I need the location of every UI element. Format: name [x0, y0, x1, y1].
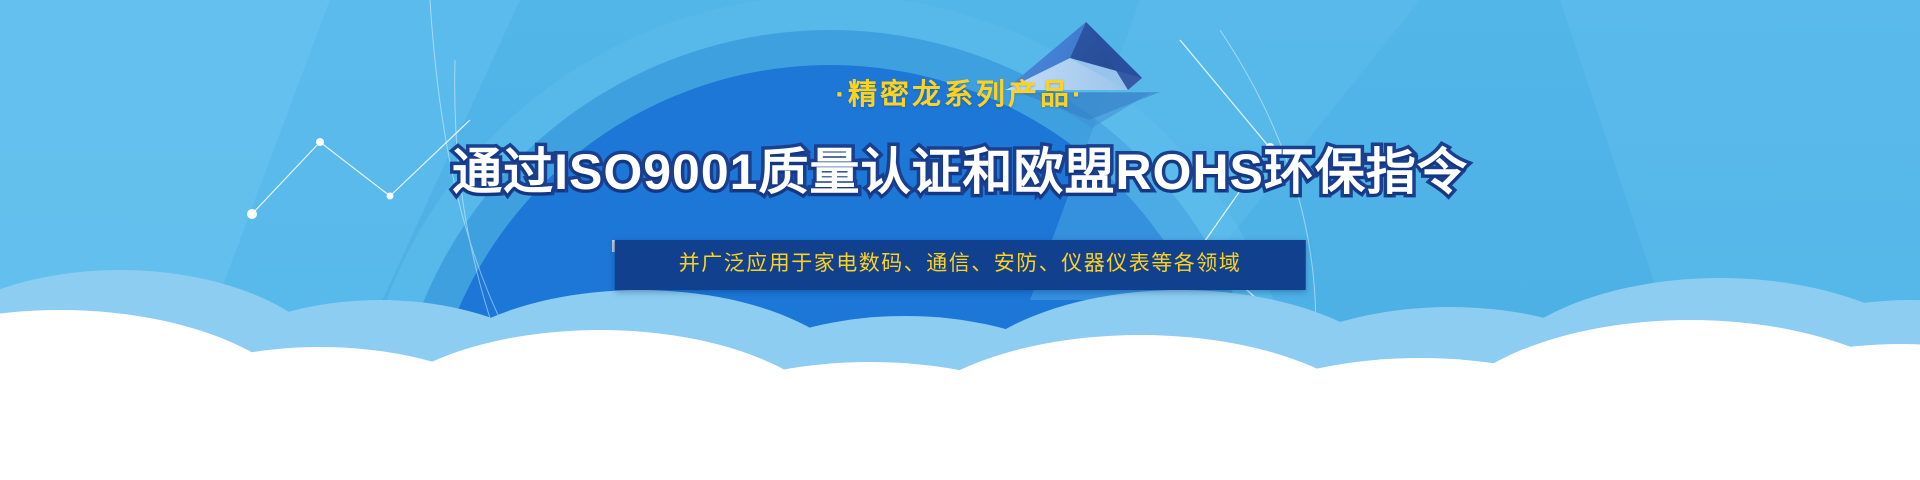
- promo-banner: ·精密龙系列产品· 通过ISO9001质量认证和欧盟ROHS环保指令 并广泛应用…: [0, 0, 1920, 480]
- banner-background-art: [0, 0, 1920, 480]
- subbar-fold: [612, 240, 648, 252]
